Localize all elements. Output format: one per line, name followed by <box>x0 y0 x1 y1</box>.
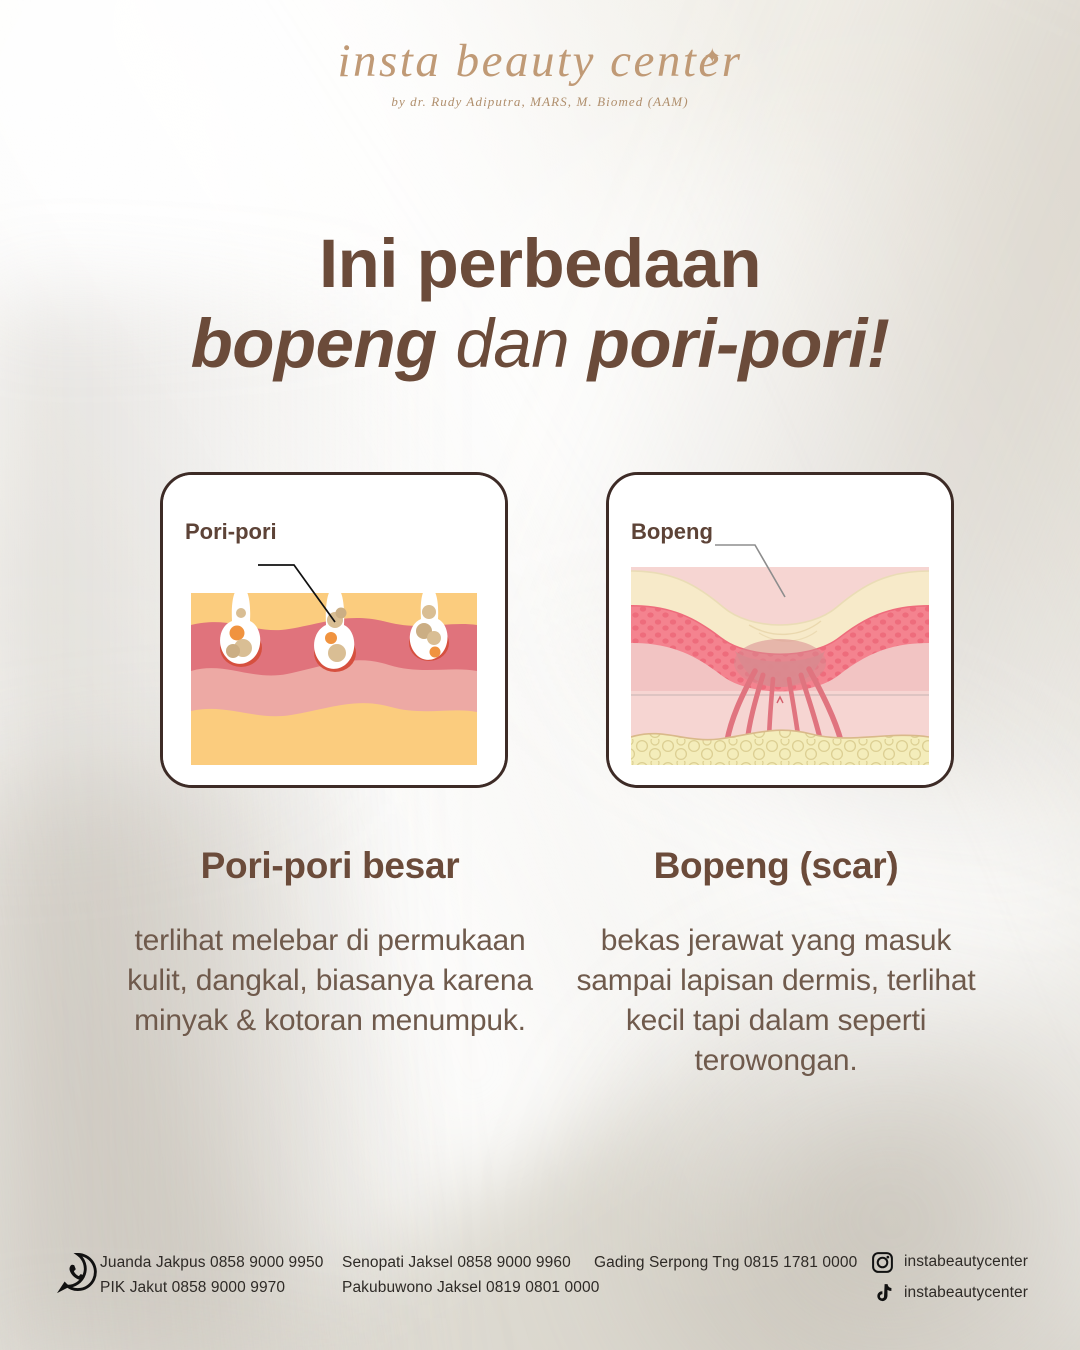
instagram-handle: instabeautycenter <box>904 1253 1028 1271</box>
column-pores: Pori-pori besar terlihat melebar di perm… <box>120 845 540 1041</box>
callout-label-pores: Pori-pori <box>185 519 277 545</box>
footer-contact-line: Gading Serpong Tng 0815 1781 0000 <box>594 1250 857 1275</box>
column-scar: Bopeng (scar) bekas jerawat yang masuk s… <box>566 845 986 1081</box>
headline-line-2: bopeng dan pori-pori! <box>0 306 1080 382</box>
footer-contacts-col1: Juanda Jakpus 0858 9000 9950 PIK Jakut 0… <box>100 1250 323 1300</box>
brand-name: insta beauty center <box>337 38 742 85</box>
column-title-pores: Pori-pori besar <box>120 845 540 887</box>
headline-dan: dan <box>455 305 569 382</box>
tiktok-icon <box>871 1282 894 1305</box>
footer-contact-line: Senopati Jaksel 0858 9000 9960 <box>342 1250 599 1275</box>
social-instagram[interactable]: instabeautycenter <box>871 1248 1028 1276</box>
brand-tagline: by dr. Rudy Adiputra, MARS, M. Biomed (A… <box>0 94 1080 110</box>
whatsapp-icon[interactable] <box>57 1251 99 1293</box>
headline-line-1: Ini perbedaan <box>0 228 1080 300</box>
headline-bopeng: bopeng <box>191 305 437 382</box>
instagram-icon <box>871 1251 894 1274</box>
sparkle-icon: ✦ <box>703 44 721 69</box>
footer-contact-line: Pakubuwono Jaksel 0819 0801 0000 <box>342 1275 599 1300</box>
illustration-card-scar: Bopeng <box>606 472 954 788</box>
social-links: instabeautycenter instabeautycenter <box>871 1248 1028 1310</box>
brand-logo: ✦ insta beauty center by dr. Rudy Adiput… <box>0 38 1080 110</box>
illustration-card-pores: Pori-pori <box>160 472 508 788</box>
footer-contacts-col3: Gading Serpong Tng 0815 1781 0000 <box>594 1250 857 1275</box>
footer: Juanda Jakpus 0858 9000 9950 PIK Jakut 0… <box>0 1242 1080 1306</box>
social-tiktok[interactable]: instabeautycenter <box>871 1279 1028 1307</box>
footer-contact-line: Juanda Jakpus 0858 9000 9950 <box>100 1250 323 1275</box>
headline-poripori: pori-pori! <box>588 305 890 382</box>
footer-contacts-col2: Senopati Jaksel 0858 9000 9960 Pakubuwon… <box>342 1250 599 1300</box>
callout-label-scar: Bopeng <box>631 519 713 545</box>
skin-layers-right <box>631 567 929 765</box>
column-body-scar: bekas jerawat yang masuk sampai lapisan … <box>566 921 986 1081</box>
column-body-pores: terlihat melebar di permukaan kulit, dan… <box>120 921 540 1041</box>
poster-canvas: ✦ insta beauty center by dr. Rudy Adiput… <box>0 0 1080 1350</box>
tiktok-handle: instabeautycenter <box>904 1284 1028 1302</box>
footer-contact-line: PIK Jakut 0858 9000 9970 <box>100 1275 323 1300</box>
page-title: Ini perbedaan bopeng dan pori-pori! <box>0 228 1080 382</box>
column-title-scar: Bopeng (scar) <box>566 845 986 887</box>
